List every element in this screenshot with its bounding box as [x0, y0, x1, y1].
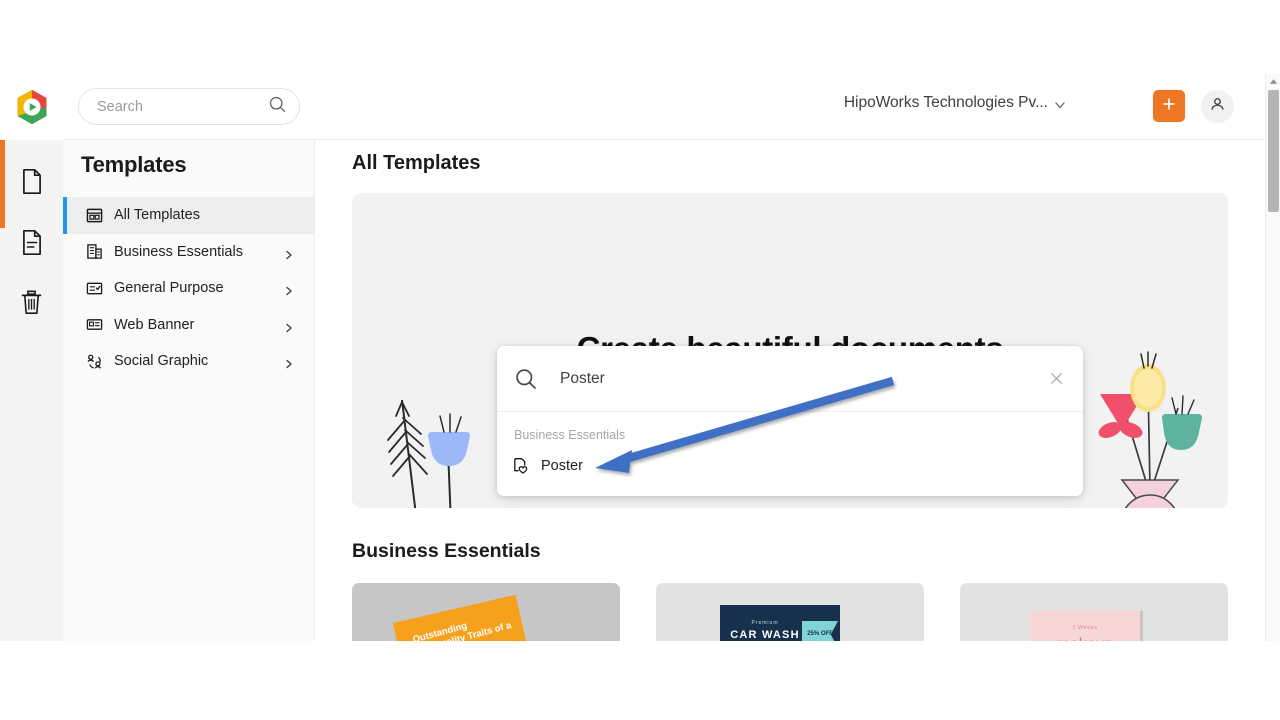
trash-icon [19, 289, 44, 321]
sidebar-item-all-templates[interactable]: All Templates [63, 197, 315, 234]
template-card[interactable]: Premium CAR WASH 25% OFF [656, 583, 924, 641]
chevron-down-icon[interactable] [1054, 98, 1066, 110]
overlay-search-input[interactable]: Poster [560, 370, 1049, 388]
rail-item-documents[interactable] [0, 155, 63, 213]
search-icon [514, 367, 538, 391]
app-window: Search HipoWorks Technologies Pv... [0, 0, 1280, 641]
blank-document-icon [20, 168, 44, 200]
organization-name[interactable]: HipoWorks Technologies Pv... [844, 94, 1048, 112]
page-title: All Templates [352, 152, 481, 175]
template-thumbnail: Premium CAR WASH 25% OFF [720, 605, 840, 641]
checklist-icon [86, 280, 103, 297]
social-users-icon [86, 353, 103, 370]
chevron-right-icon[interactable] [284, 247, 294, 257]
global-search-input[interactable]: Search [97, 99, 268, 115]
user-avatar-icon [1208, 95, 1227, 119]
template-thumbnail: 2 Outstanding Personality Traits of a [393, 595, 550, 641]
global-search-box[interactable]: Search [78, 88, 300, 125]
plus-icon [1160, 95, 1178, 118]
template-thumbnail: 7 Weeks makeup courses [1030, 611, 1140, 641]
sidebar-nav: All Templates Business Essentials [63, 197, 315, 380]
rail-item-trash[interactable] [0, 276, 63, 334]
app-logo[interactable] [14, 88, 50, 126]
thumbnail-text: Outstanding Personality Traits of a [412, 609, 514, 641]
wheat-and-blue-tulip-illustration [372, 388, 502, 508]
thumbnail-pretitle: 7 Weeks [1030, 625, 1140, 631]
overlay-result-label: Poster [541, 458, 583, 474]
sidebar-item-label: All Templates [114, 207, 200, 223]
thumbnail-ribbon: 25% OFF [802, 621, 838, 641]
template-card[interactable]: 7 Weeks makeup courses [960, 583, 1228, 641]
rail-item-files[interactable] [0, 216, 63, 274]
add-new-button[interactable] [1153, 90, 1185, 122]
chevron-right-icon[interactable] [284, 356, 294, 366]
pink-vase-with-flowers-illustration [1086, 348, 1216, 508]
banner-icon [86, 316, 103, 333]
search-icon [268, 95, 287, 119]
top-bar: Search HipoWorks Technologies Pv... [0, 0, 1280, 140]
template-card[interactable]: 2 Outstanding Personality Traits of a [352, 583, 620, 641]
sidebar-item-web-banner[interactable]: Web Banner [63, 307, 315, 344]
close-icon[interactable] [1049, 371, 1064, 386]
sidebar-item-label: Business Essentials [114, 244, 243, 260]
grid-template-icon [86, 207, 103, 224]
building-icon [86, 243, 103, 260]
section-title-business-essentials: Business Essentials [352, 540, 541, 563]
user-avatar-button[interactable] [1201, 90, 1234, 123]
scroll-up-arrow-icon[interactable] [1266, 74, 1280, 88]
document-lines-icon [20, 229, 44, 261]
sidebar-item-label: General Purpose [114, 280, 224, 296]
sidebar-title: Templates [81, 152, 186, 178]
scrollbar-thumb[interactable] [1268, 90, 1279, 212]
overlay-search-row[interactable]: Poster [497, 346, 1083, 412]
thumbnail-title: CAR WASH [720, 629, 810, 641]
template-card-grid: 2 Outstanding Personality Traits of a Pr… [352, 583, 1242, 641]
icon-rail [0, 140, 63, 641]
vertical-scrollbar[interactable] [1265, 74, 1280, 641]
sidebar-item-social-graphic[interactable]: Social Graphic [63, 343, 315, 380]
chevron-right-icon[interactable] [284, 283, 294, 293]
sidebar: Templates All Templates [63, 140, 315, 641]
sidebar-item-label: Web Banner [114, 317, 194, 333]
sidebar-item-general-purpose[interactable]: General Purpose [63, 270, 315, 307]
sidebar-item-label: Social Graphic [114, 353, 208, 369]
thumbnail-pretitle: Premium [720, 620, 810, 626]
document-heart-icon [512, 457, 529, 474]
overlay-result-poster[interactable]: Poster [497, 449, 1083, 482]
overlay-group-label: Business Essentials [514, 428, 625, 442]
template-search-overlay: Poster Business Essentials Poster [497, 346, 1083, 496]
chevron-right-icon[interactable] [284, 320, 294, 330]
sidebar-item-business-essentials[interactable]: Business Essentials [63, 234, 315, 271]
thumbnail-line1: makeup [1030, 636, 1140, 641]
